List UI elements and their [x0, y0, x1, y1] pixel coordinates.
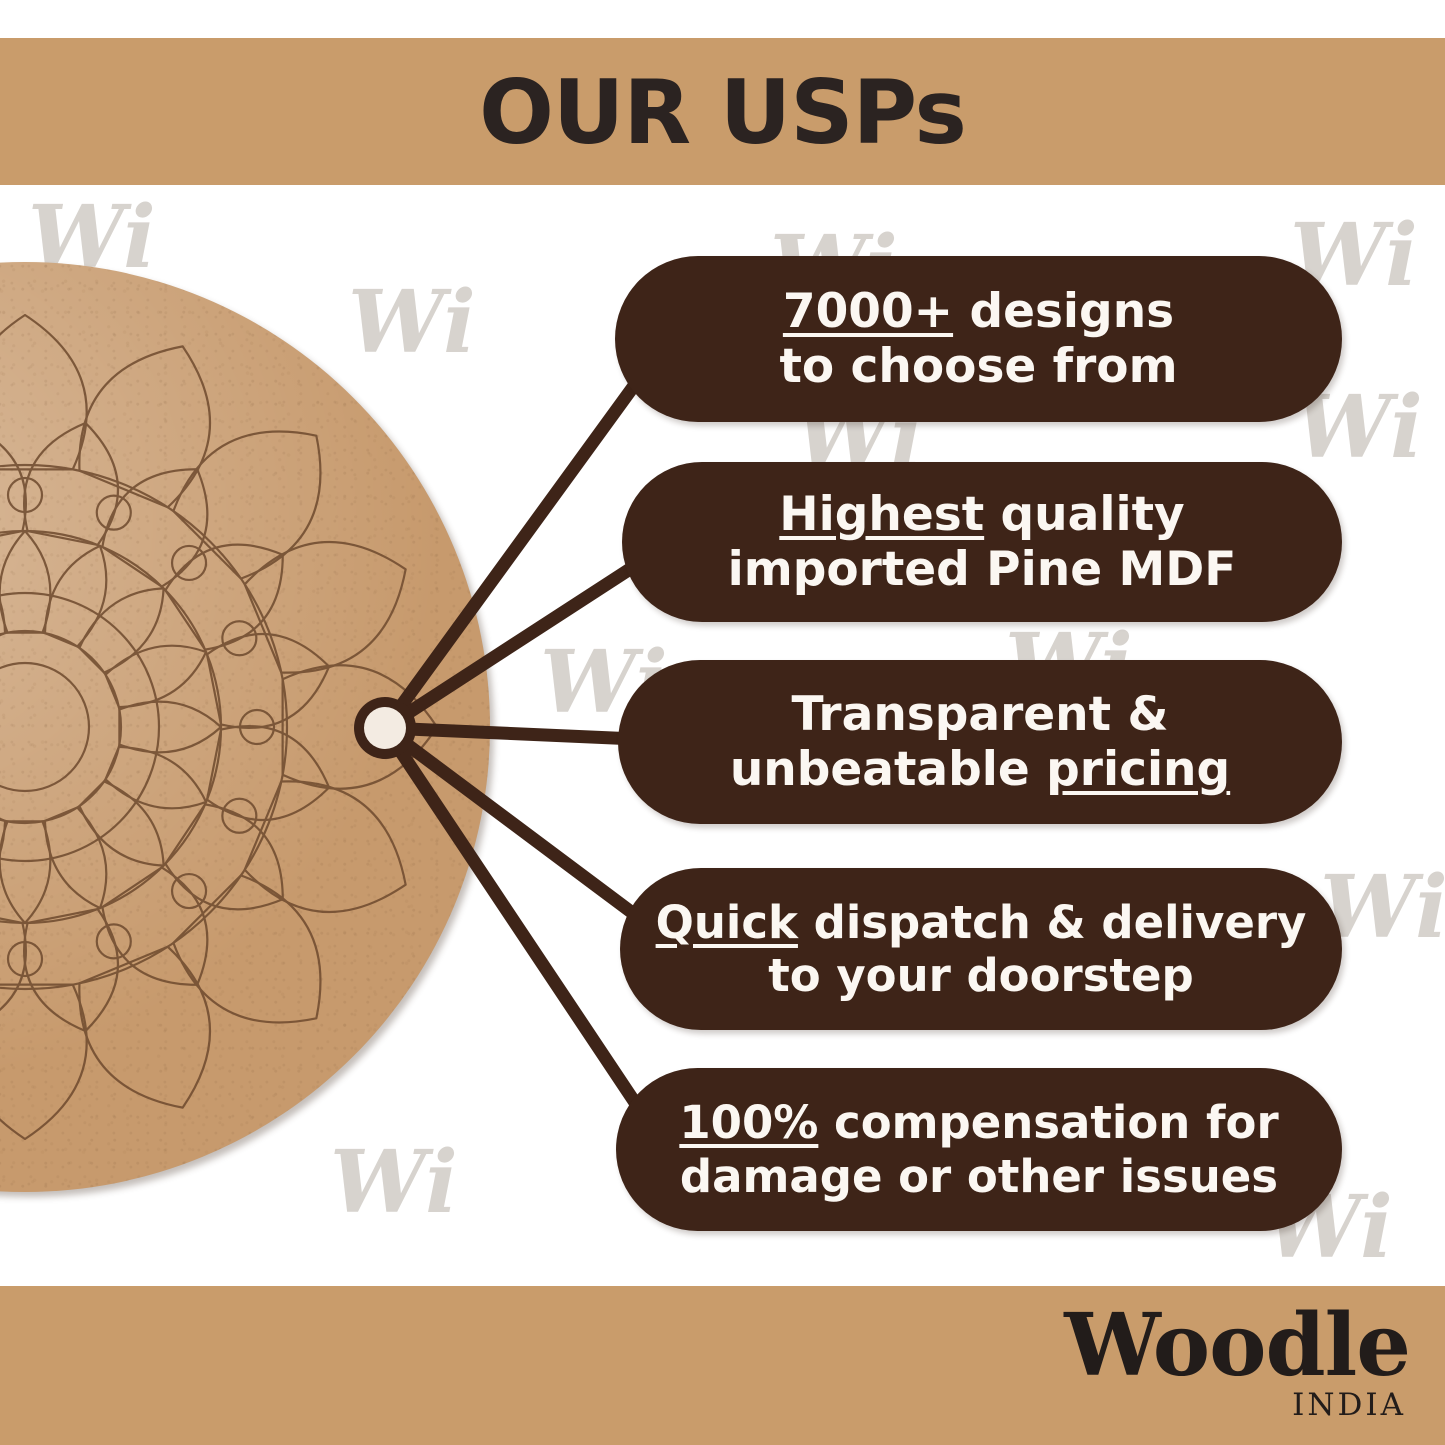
usp-line: Transparent & — [792, 687, 1169, 742]
usp-pill-pricing[interactable]: Transparent & unbeatable pricing — [618, 660, 1342, 824]
usp-text: to choose from — [779, 339, 1177, 394]
usp-pill-designs[interactable]: 7000+ designs to choose from — [615, 256, 1342, 422]
mandala-petal — [0, 315, 87, 469]
usp-keyword: pricing — [1046, 742, 1230, 797]
usp-text: Transparent & — [792, 687, 1169, 742]
usp-line: damage or other issues — [680, 1150, 1278, 1203]
usp-line: Quick dispatch & delivery — [656, 896, 1307, 949]
usp-line: to your doorstep — [768, 949, 1194, 1002]
mandala-petal — [0, 531, 50, 633]
usp-keyword: 100% — [679, 1096, 818, 1149]
mandala-petal — [119, 702, 221, 753]
mdf-mandala-product — [0, 262, 500, 1202]
mandala-petal — [79, 781, 163, 865]
usp-pill-quality[interactable]: Highest quality imported Pine MDF — [622, 462, 1342, 622]
usp-line: unbeatable pricing — [730, 742, 1230, 797]
usp-text: designs — [953, 284, 1174, 339]
usp-line: to choose from — [779, 339, 1177, 394]
usp-text: dispatch & delivery — [798, 896, 1306, 949]
usp-keyword: Quick — [656, 896, 798, 949]
usp-text: unbeatable — [730, 742, 1046, 797]
usp-text: damage or other issues — [680, 1150, 1278, 1203]
page-title: OUR USPs — [0, 55, 1445, 170]
usp-text: to your doorstep — [768, 949, 1194, 1002]
usp-text: quality — [984, 487, 1185, 542]
mandala-petal — [283, 665, 437, 788]
mandala-petal — [79, 588, 163, 672]
mandala-petal — [79, 947, 210, 1108]
usp-line: 7000+ designs — [783, 284, 1174, 339]
mandala-petal — [245, 542, 406, 673]
usp-keyword: Highest — [779, 487, 984, 542]
mandala-petal — [0, 985, 87, 1139]
infographic-canvas: OUR USPs WiWiWiWiWiWiWiWiWiWiWi — [0, 0, 1445, 1445]
brand-wordmark: Woodle — [1030, 1300, 1410, 1392]
usp-text: imported Pine MDF — [728, 542, 1237, 597]
mandala-engraving — [0, 262, 490, 1192]
usp-line: Highest quality — [779, 487, 1184, 542]
usp-pill-dispatch[interactable]: Quick dispatch & delivery to your doorst… — [620, 868, 1342, 1030]
brand-logo: Woodle INDIA — [1030, 1300, 1410, 1422]
usp-line: 100% compensation for — [679, 1096, 1278, 1149]
mandala-petal — [0, 821, 50, 923]
usp-text: compensation for — [818, 1096, 1278, 1149]
mandala-petal — [79, 346, 210, 507]
mandala-petal — [245, 781, 406, 912]
usp-line: imported Pine MDF — [728, 542, 1237, 597]
usp-keyword: 7000+ — [783, 284, 953, 339]
usp-pill-compensation[interactable]: 100% compensation for damage or other is… — [616, 1068, 1342, 1231]
